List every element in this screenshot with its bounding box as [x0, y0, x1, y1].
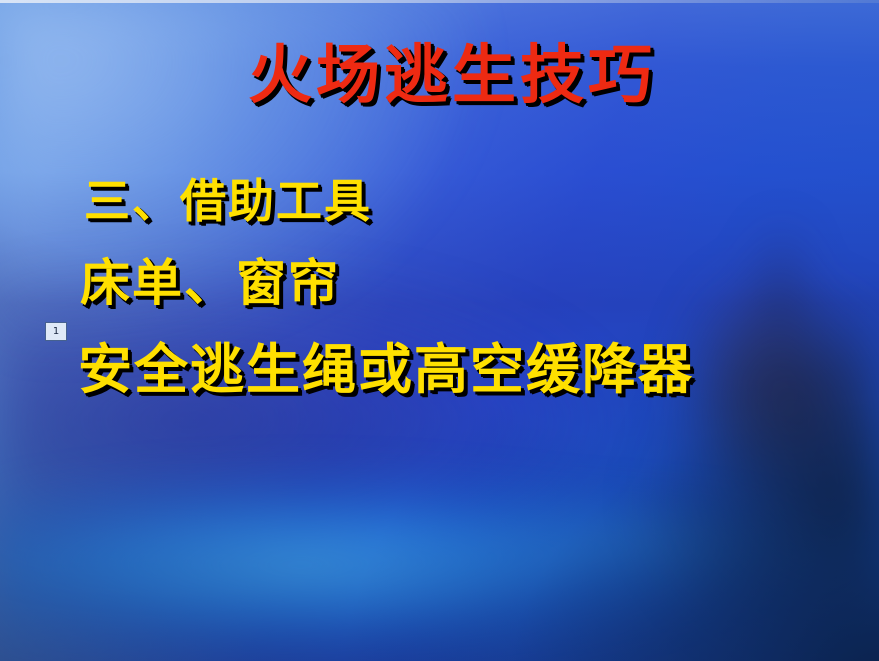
body-line-item-2: 安全逃生绳或高空缓降器 — [78, 342, 694, 396]
slide-body: 三、借助工具 床单、窗帘 安全逃生绳或高空缓降器 — [0, 0, 879, 661]
page-number-badge[interactable]: 1 — [45, 322, 67, 341]
body-line-item-1: 床单、窗帘 — [80, 258, 340, 308]
slide-canvas: 火场逃生技巧 三、借助工具 床单、窗帘 安全逃生绳或高空缓降器 1 — [0, 0, 879, 661]
page-number-label: 1 — [53, 327, 59, 337]
body-line-heading: 三、借助工具 — [84, 178, 372, 224]
